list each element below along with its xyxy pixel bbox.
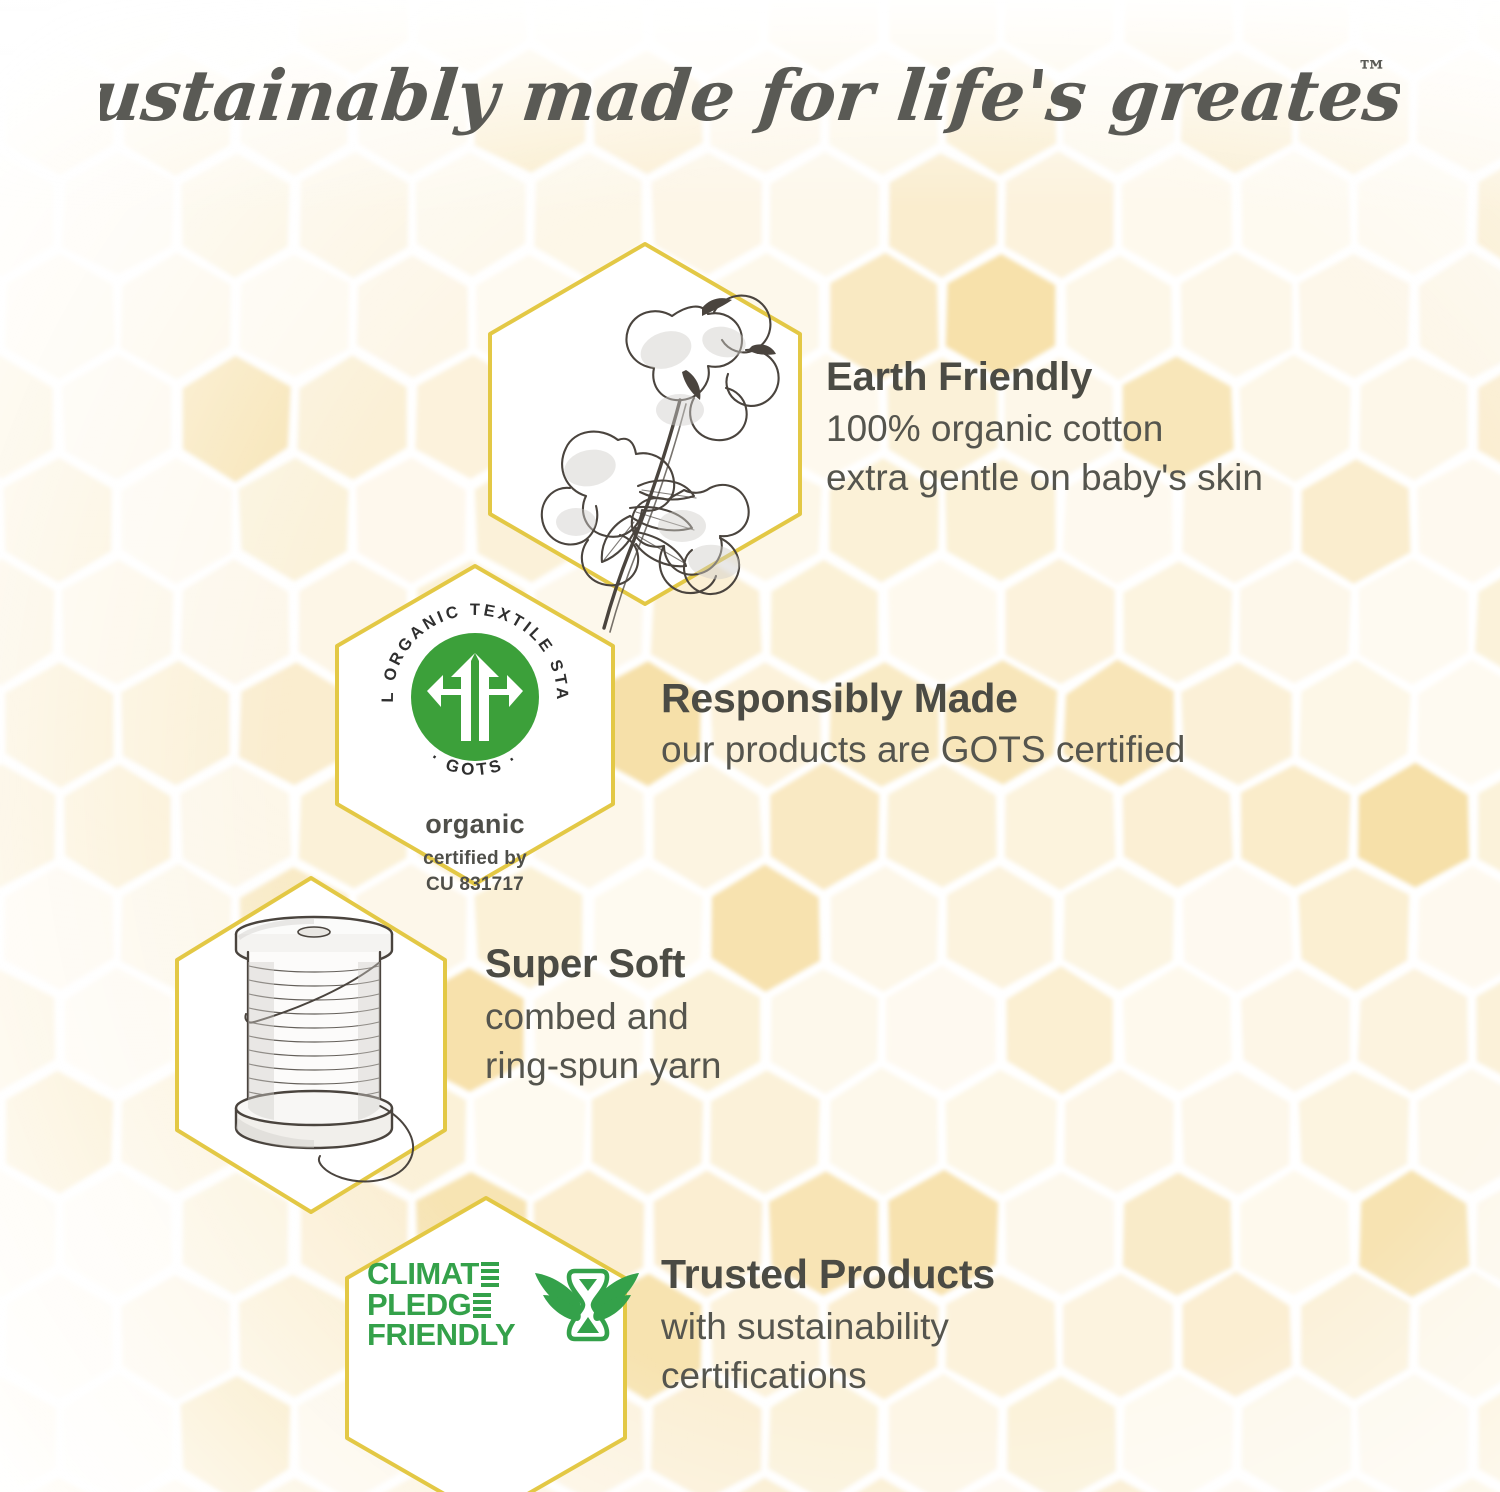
feature-line: combed and <box>485 992 722 1041</box>
tagline-script: sustainably made for life's greatest joy… <box>100 36 1400 156</box>
feature-text-earth-friendly: Earth Friendly 100% organic cotton extra… <box>826 352 1263 502</box>
tagline-text: sustainably made for life's greatest joy <box>100 54 1400 137</box>
feature-line: ring-spun yarn <box>485 1041 722 1090</box>
gots-certification-icon: GLOBAL ORGANIC TEXTILE STANDARD · GOTS ·… <box>305 585 645 898</box>
feature-line: extra gentle on baby's skin <box>826 453 1263 502</box>
feature-line: certifications <box>661 1351 995 1400</box>
trademark-symbol: ™ <box>1357 55 1387 90</box>
climate-pledge-friendly-icon: CLIMAT PLEDG FRIENDLY <box>367 1259 643 1351</box>
feature-text-responsibly-made: Responsibly Made our products are GOTS c… <box>661 672 1185 774</box>
feature-text-super-soft: Super Soft combed and ring-spun yarn <box>485 938 722 1090</box>
cpf-line-2: PLEDG <box>367 1290 471 1320</box>
cpf-bars-1 <box>481 1262 499 1287</box>
thread-spool-icon <box>182 890 462 1190</box>
climate-pledge-wordmark: CLIMAT PLEDG FRIENDLY <box>367 1259 515 1350</box>
cpf-line-3: FRIENDLY <box>367 1320 515 1350</box>
page-tagline: sustainably made for life's greatest joy… <box>0 36 1500 161</box>
feature-line: with sustainability <box>661 1302 995 1351</box>
gots-green-disc <box>411 633 539 761</box>
feature-heading: Super Soft <box>485 938 722 990</box>
feature-line: 100% organic cotton <box>826 404 1263 453</box>
feature-line: our products are GOTS certified <box>661 726 1185 774</box>
feature-text-trusted-products: Trusted Products with sustainability cer… <box>661 1248 995 1400</box>
infographic-canvas: sustainably made for life's greatest joy… <box>0 0 1500 1492</box>
feature-heading: Trusted Products <box>661 1248 995 1300</box>
winged-hourglass-icon <box>531 1259 643 1351</box>
feature-heading: Earth Friendly <box>826 352 1263 402</box>
cpf-bars-2 <box>473 1293 491 1318</box>
feature-heading: Responsibly Made <box>661 672 1185 724</box>
gots-certified-by-label: certified by <box>305 846 645 872</box>
cpf-line-1: CLIMAT <box>367 1259 479 1289</box>
gots-organic-label: organic <box>305 809 645 840</box>
